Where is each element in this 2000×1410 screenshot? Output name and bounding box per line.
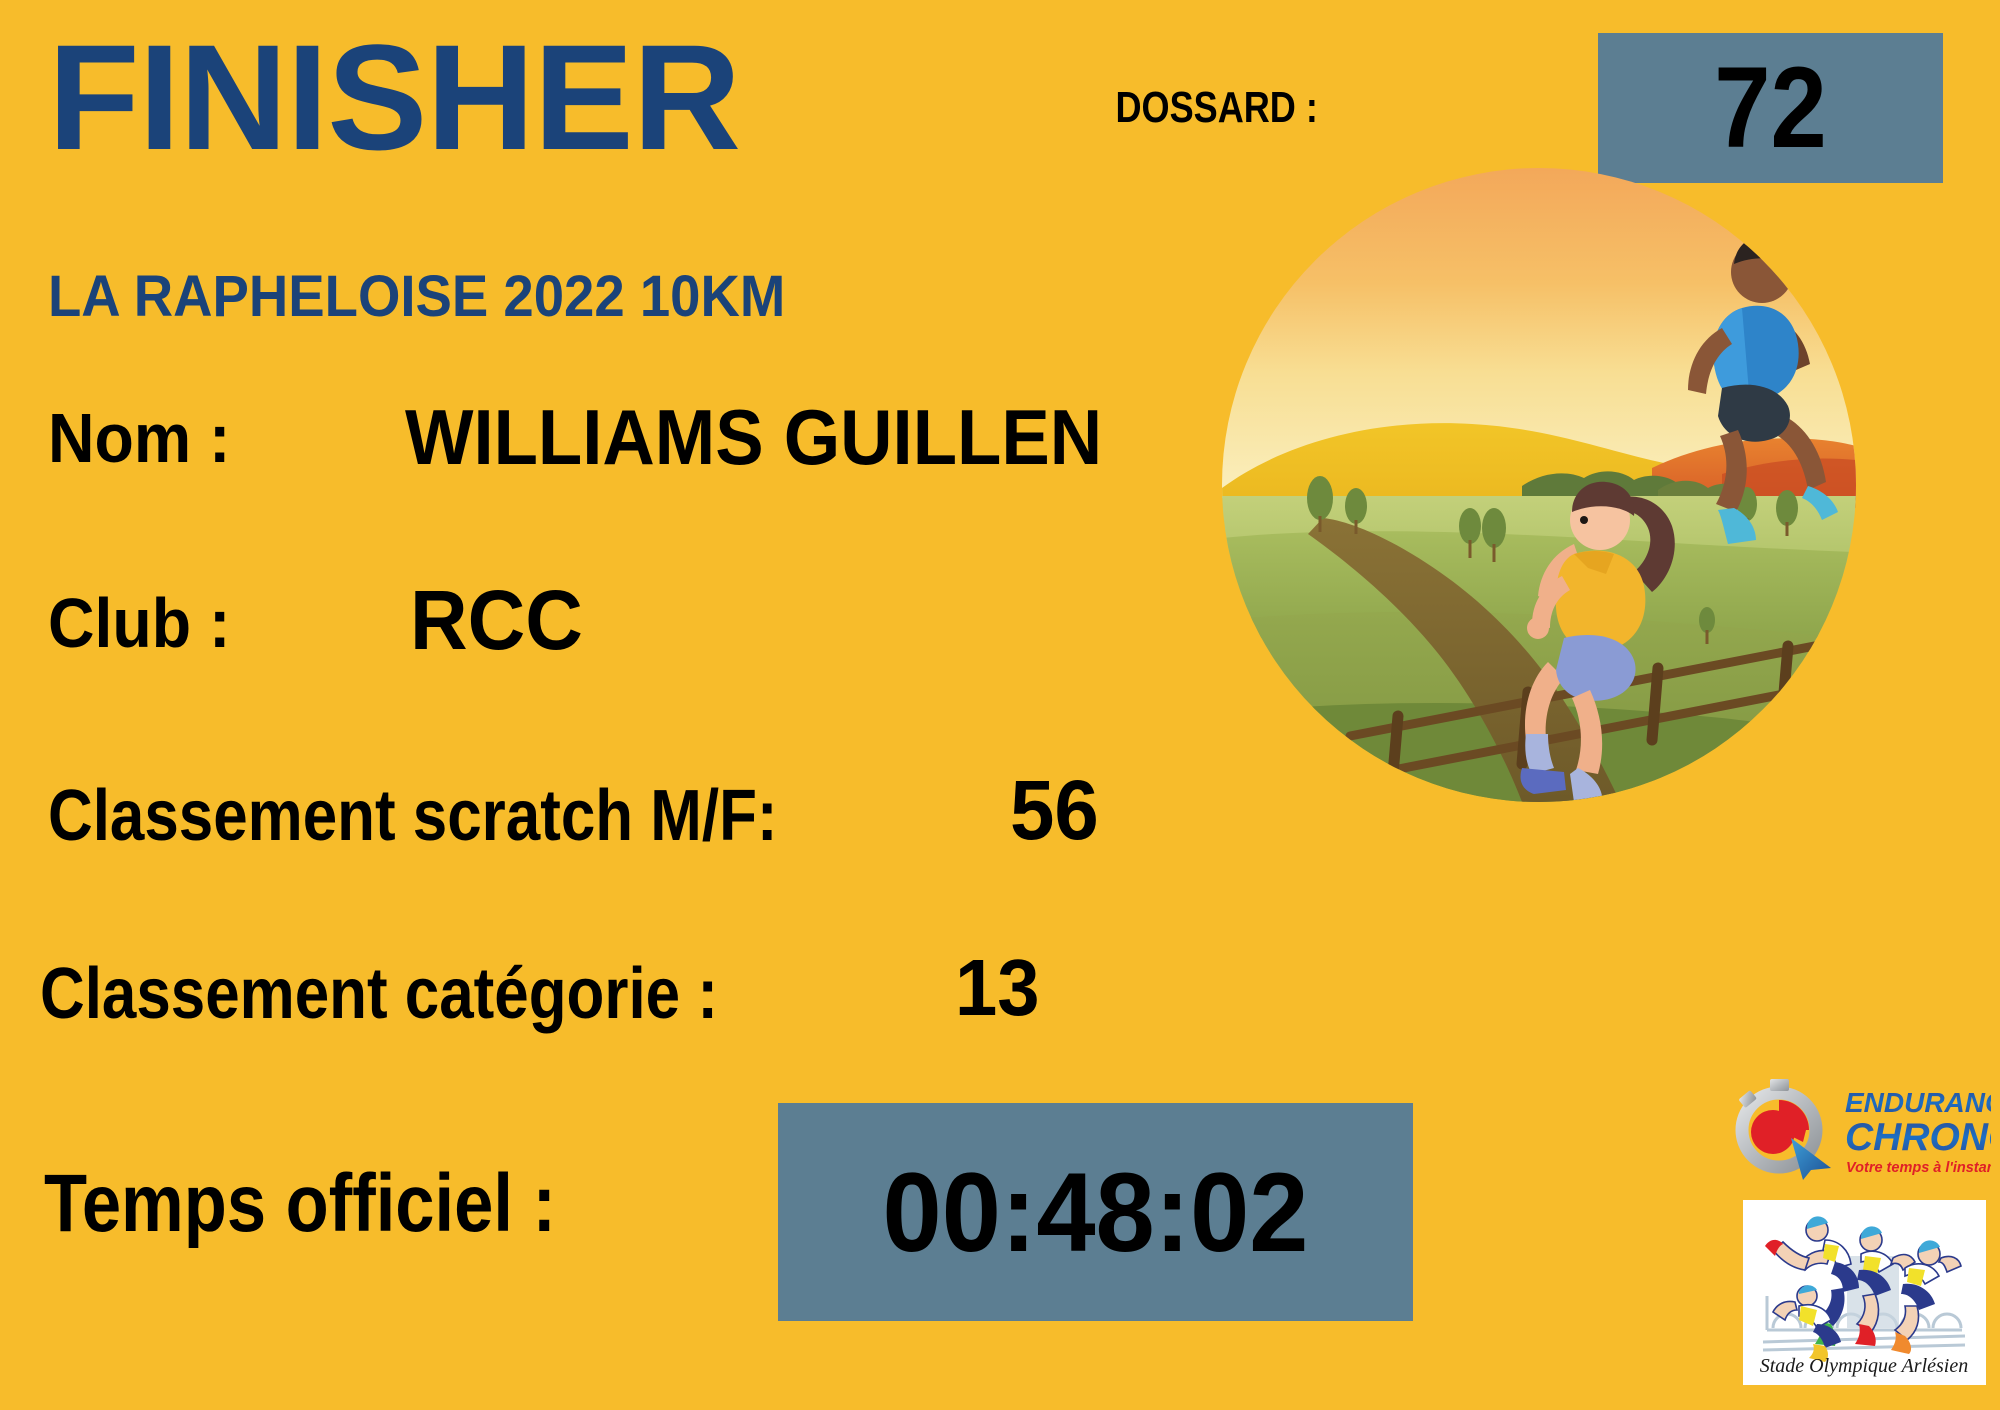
- club-value: RCC: [410, 578, 583, 662]
- temps-officiel-value: 00:48:02: [794, 1103, 1397, 1321]
- club-label: Club :: [48, 588, 230, 658]
- endurance-chrono-line1: ENDURANCE: [1845, 1087, 1991, 1118]
- temps-officiel-label: Temps officiel :: [44, 1163, 556, 1245]
- event-subtitle: LA RAPHELOISE 2022 10KM: [48, 268, 785, 326]
- finisher-certificate: FINISHER LA RAPHELOISE 2022 10KM DOSSARD…: [0, 0, 2000, 1410]
- classement-categorie-label: Classement catégorie :: [40, 958, 718, 1030]
- classement-categorie-value: 13: [955, 948, 1040, 1028]
- stade-olympique-caption: Stade Olympique Arlésien: [1760, 1355, 1968, 1377]
- page-title: FINISHER: [48, 22, 740, 172]
- runners-illustration: [1222, 168, 1856, 802]
- nom-value: WILLIAMS GUILLEN: [405, 398, 1102, 476]
- endurance-chrono-logo: ENDURANCE CHRONO Votre temps à l'instant…: [1723, 1068, 1991, 1180]
- dossard-value: 72: [1619, 33, 1923, 183]
- endurance-chrono-tagline: Votre temps à l'instant T: [1846, 1160, 1991, 1176]
- nom-label: Nom :: [48, 403, 230, 473]
- classement-scratch-value: 56: [1010, 768, 1099, 852]
- stade-olympique-arlesien-logo: Stade Olympique Arlésien: [1743, 1200, 1986, 1385]
- classement-scratch-label: Classement scratch M/F:: [48, 780, 778, 852]
- dossard-label: DOSSARD :: [1116, 86, 1318, 130]
- endurance-chrono-line2: CHRONO: [1845, 1116, 1991, 1159]
